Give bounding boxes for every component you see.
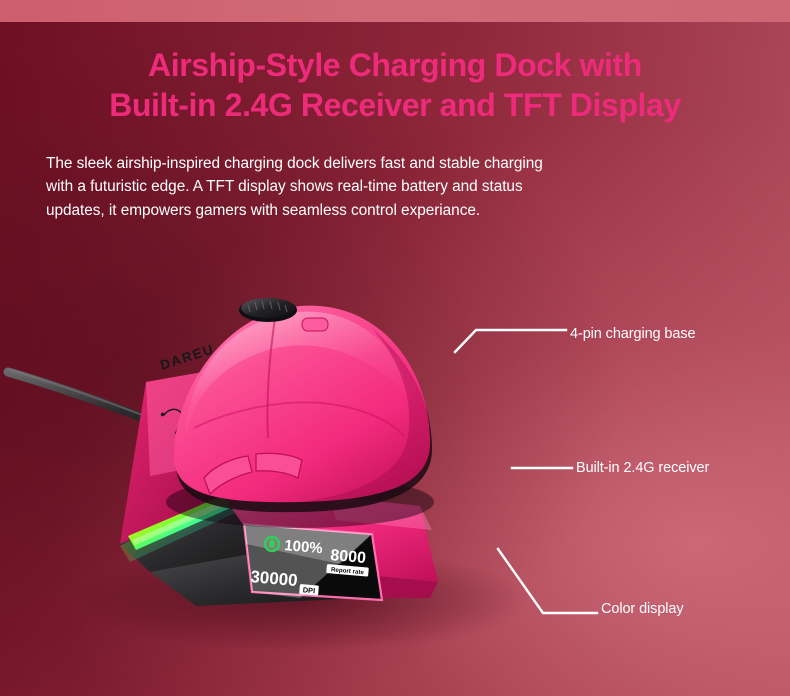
dpi-button[interactable] [302, 318, 328, 331]
body-line-1: The sleek airship-inspired charging dock… [46, 152, 762, 175]
callout-4-pin-charging-base: 4-pin charging base [570, 326, 695, 342]
promo-banner: Airship-Style Charging Dock with Built-i… [0, 0, 790, 696]
product-illustration: 100% 30000 DPI 8000 Report rate [0, 200, 600, 670]
battery-percent: 100% [284, 537, 324, 557]
page-title: Airship-Style Charging Dock with Built-i… [0, 46, 790, 125]
dpi-label: DPI [302, 585, 315, 595]
scroll-wheel[interactable] [239, 298, 297, 322]
callout-color-display: Color display [601, 601, 684, 617]
tft-display[interactable]: 100% 30000 DPI 8000 Report rate [244, 524, 382, 600]
headline-line-1: Airship-Style Charging Dock with [148, 47, 642, 83]
gaming-mouse: DAREU [158, 298, 434, 528]
top-accent-band [0, 0, 790, 22]
dpi-label-chip: DPI [299, 584, 319, 596]
callout-built-in-24g-receiver: Built-in 2.4G receiver [576, 460, 709, 476]
headline-line-2: Built-in 2.4G Receiver and TFT Display [0, 86, 790, 126]
body-line-2: with a futuristic edge. A TFT display sh… [46, 175, 762, 198]
polling-rate-value: 8000 [330, 547, 367, 567]
